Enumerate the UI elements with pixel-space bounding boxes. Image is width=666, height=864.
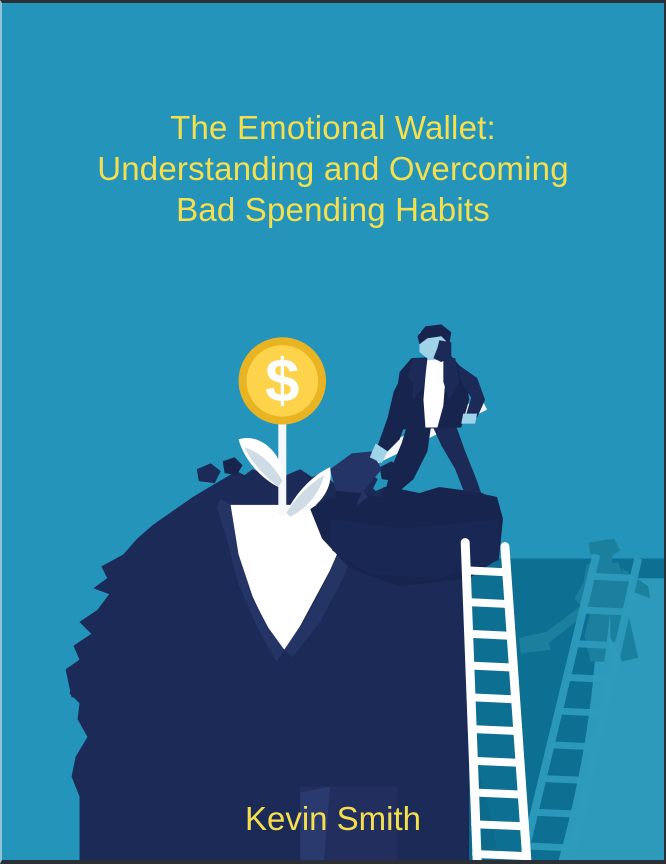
coin-dollar-sign: $ (265, 346, 299, 415)
dollar-coin: $ (239, 337, 326, 424)
businessman-hand-right (461, 414, 477, 424)
book-cover: $ The Emotio (0, 0, 666, 864)
cover-illustration: $ (2, 3, 664, 860)
